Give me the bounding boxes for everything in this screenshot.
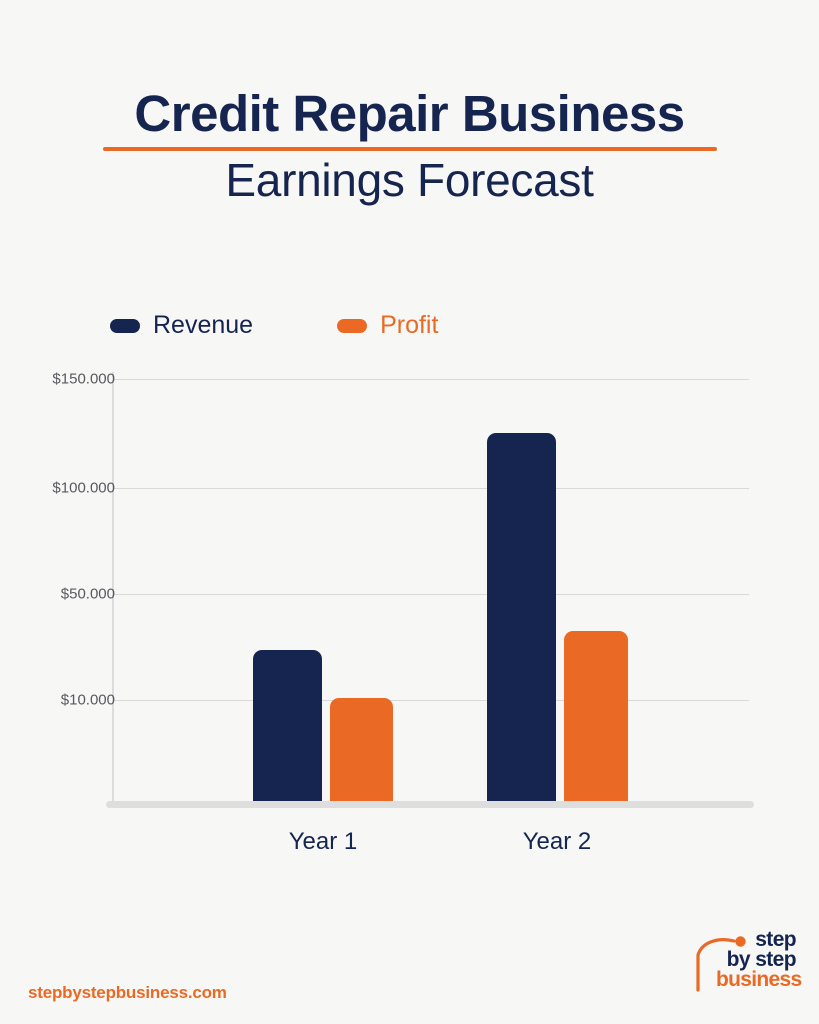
gridline-10000 bbox=[112, 700, 749, 701]
logo-wordmark: step by step business bbox=[716, 930, 796, 990]
gridline-150000 bbox=[112, 379, 749, 380]
bar-profit-year-1[interactable] bbox=[330, 698, 393, 802]
logo-line-step: step bbox=[716, 930, 796, 950]
gridline-100000 bbox=[112, 488, 749, 489]
y-axis-tick-label-150000: $150.000 bbox=[52, 371, 115, 388]
logo-line-business: business bbox=[716, 970, 796, 990]
logo-line-by-step: by step bbox=[716, 950, 796, 970]
bar-chart: $150.000 $100.000 $50.000 $10.000 Year 1… bbox=[0, 0, 819, 1024]
x-axis-baseline bbox=[106, 801, 754, 808]
bar-revenue-year-1[interactable] bbox=[253, 650, 322, 802]
bar-revenue-year-2[interactable] bbox=[487, 433, 556, 802]
x-axis-tick-label-year-1: Year 1 bbox=[289, 828, 358, 856]
y-axis-tick-label-50000: $50.000 bbox=[61, 586, 115, 603]
brand-logo[interactable]: step by step business bbox=[688, 928, 796, 1002]
gridline-50000 bbox=[112, 594, 749, 595]
x-axis-tick-label-year-2: Year 2 bbox=[523, 828, 592, 856]
y-axis-tick-label-10000: $10.000 bbox=[61, 692, 115, 709]
bar-profit-year-2[interactable] bbox=[564, 631, 628, 802]
y-axis-tick-label-100000: $100.000 bbox=[52, 480, 115, 497]
footer-website-url[interactable]: stepbystepbusiness.com bbox=[28, 983, 227, 1003]
